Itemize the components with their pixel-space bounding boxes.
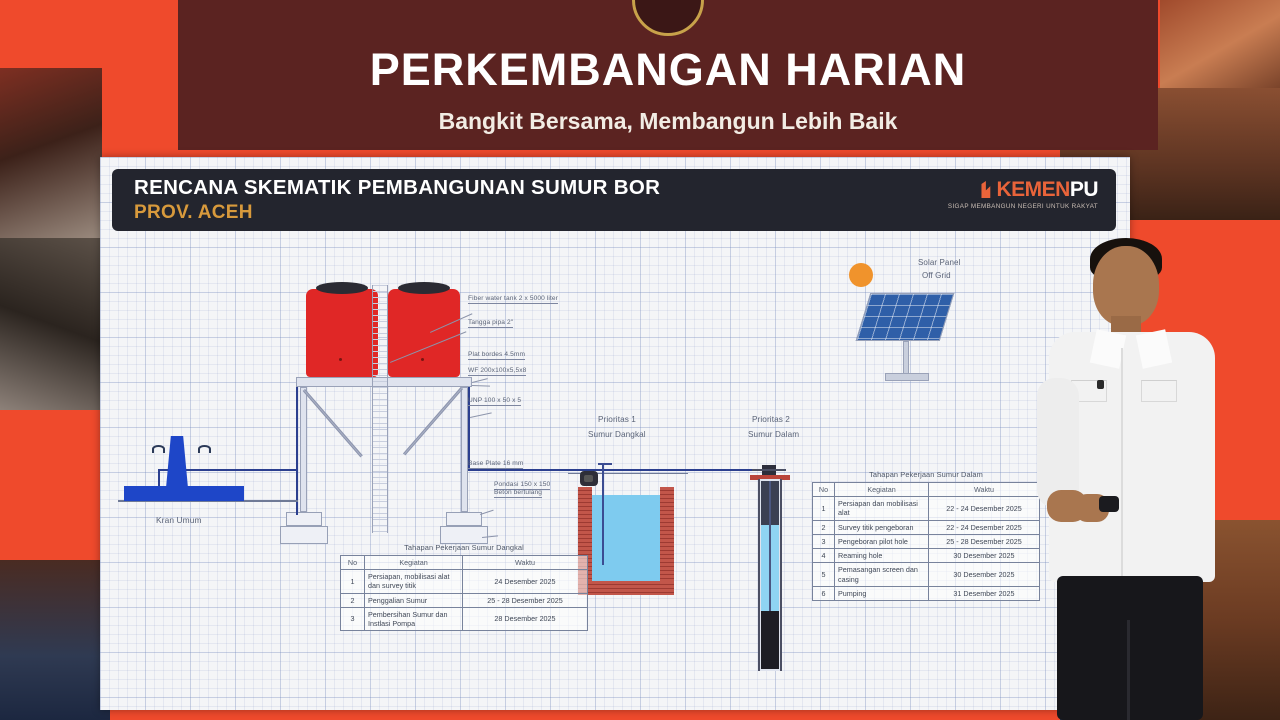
deep-well-sump	[761, 611, 779, 669]
cell-kegiatan: Persiapan, mobilisasi alat dan survey ti…	[365, 570, 463, 593]
annotation-wf: WF 200x100x5,5x8	[468, 367, 526, 376]
shallow-well-wall-bottom	[578, 581, 674, 595]
annotation-foundation-line2: Beton bertulang	[494, 489, 542, 498]
cell-no: 3	[813, 534, 835, 548]
annotation-unp: UNP 100 x 50 x 5	[468, 397, 521, 406]
annotation-ladder: Tangga pipa 2"	[468, 319, 513, 328]
table-row: 3 Pengeboran pilot hole 25 - 28 Desember…	[813, 534, 1040, 548]
cell-no: 5	[813, 563, 835, 586]
table-header-row: No Kegiatan Waktu	[813, 483, 1040, 497]
sun-icon	[849, 263, 873, 287]
header-kegiatan: Kegiatan	[835, 483, 929, 497]
slide-subtitle-province: PROV. ACEH	[134, 202, 253, 224]
cell-kegiatan: Pengeboran pilot hole	[835, 534, 929, 548]
cell-no: 4	[813, 549, 835, 563]
cell-kegiatan: Penggalian Sumur	[365, 593, 463, 607]
tap-faucet-left-icon	[152, 445, 165, 453]
table-row: 2 Survey titik pengeboran 22 - 24 Desemb…	[813, 520, 1040, 534]
cell-no: 1	[813, 497, 835, 520]
access-ladder	[372, 285, 388, 533]
cell-waktu: 28 Desember 2025	[463, 607, 588, 630]
header-no: No	[813, 483, 835, 497]
logo-kemen-text: KEMEN	[996, 178, 1069, 201]
slide-header-bar: RENCANA SKEMATIK PEMBANGUNAN SUMUR BOR P…	[112, 169, 1116, 231]
supply-pipe-main	[468, 469, 768, 471]
cell-no: 2	[813, 520, 835, 534]
table-header-row: No Kegiatan Waktu	[341, 556, 588, 570]
cell-kegiatan: Pemasangan screen dan casing	[835, 563, 929, 586]
table-row: 4 Reaming hole 30 Desember 2025	[813, 549, 1040, 563]
priority1-subtitle: Sumur Dangkal	[588, 430, 646, 439]
cell-kegiatan: Reaming hole	[835, 549, 929, 563]
solar-panel-array	[856, 293, 955, 341]
annotation-plate: Plat bordes 4.5mm	[468, 351, 525, 360]
cell-kegiatan: Pumping	[835, 586, 929, 600]
deep-well-drop-pipe	[769, 481, 771, 611]
tap-column	[166, 436, 188, 488]
presenter-shirt-placket	[1121, 348, 1123, 580]
table-row: 3 Pembersihan Sumur dan Instlasi Pompa 2…	[341, 607, 588, 630]
shallow-table: No Kegiatan Waktu 1 Persiapan, mobilisas…	[340, 555, 588, 631]
tap-faucet-right-icon	[198, 445, 211, 453]
cell-waktu: 24 Desember 2025	[463, 570, 588, 593]
presenter-head	[1093, 246, 1159, 326]
presenter-wristwatch	[1099, 496, 1119, 512]
fiber-water-tank-right	[388, 289, 460, 377]
program-title: PERKEMBANGAN HARIAN	[178, 44, 1158, 96]
table-row: 2 Penggalian Sumur 25 - 28 Desember 2025	[341, 593, 588, 607]
priority2-subtitle: Sumur Dalam	[748, 430, 799, 439]
deep-table-caption: Tahapan Pekerjaan Sumur Dalam	[812, 470, 1040, 479]
header-kegiatan: Kegiatan	[365, 556, 463, 570]
deep-table: No Kegiatan Waktu 1 Persiapan dan mobili…	[812, 482, 1040, 601]
broadcast-stage: PERKEMBANGAN HARIAN Bangkit Bersama, Mem…	[0, 0, 1280, 720]
deep-well-diagram	[750, 465, 790, 685]
program-title-banner: PERKEMBANGAN HARIAN Bangkit Bersama, Mem…	[178, 0, 1158, 150]
presenter-person	[1035, 228, 1235, 720]
cell-kegiatan: Pembersihan Sumur dan Instlasi Pompa	[365, 607, 463, 630]
presenter-pocket-right	[1141, 380, 1177, 402]
cell-kegiatan: Survey titik pengeboran	[835, 520, 929, 534]
cell-waktu: 25 - 28 Desember 2025	[463, 593, 588, 607]
kementerian-pu-logo: KEMENPU SIGAP MEMBANGUN NEGERI UNTUK RAK…	[948, 179, 1098, 210]
table-row: 1 Persiapan, mobilisasi alat dan survey …	[341, 570, 588, 593]
cell-waktu: 22 - 24 Desember 2025	[929, 520, 1040, 534]
solar-panel-base	[885, 373, 929, 381]
cell-no: 2	[341, 593, 365, 607]
cell-waktu: 31 Desember 2025	[929, 586, 1040, 600]
cell-waktu: 30 Desember 2025	[929, 549, 1040, 563]
solar-panel-pole	[903, 341, 909, 375]
cell-no: 6	[813, 586, 835, 600]
cell-no: 3	[341, 607, 365, 630]
presenter-leg-separation	[1127, 620, 1130, 720]
priority2-title: Prioritas 2	[752, 415, 790, 424]
logo-tagline: SIGAP MEMBANGUN NEGERI UNTUK RAKYAT	[948, 203, 1098, 210]
tower-leg-right	[461, 387, 468, 512]
logo-pu-text: PU	[1070, 178, 1098, 201]
background-photo-rescue-left	[0, 560, 110, 720]
foundation-left	[286, 512, 322, 526]
header-waktu: Waktu	[463, 556, 588, 570]
cell-no: 1	[341, 570, 365, 593]
shallow-well-pump	[580, 471, 598, 486]
background-photo-flood-left	[0, 68, 102, 238]
background-photo-mud-right	[1160, 0, 1280, 100]
distribution-pipe-vertical-left	[296, 387, 298, 515]
background-photo-aid-right	[1240, 220, 1280, 520]
foundation-right	[446, 512, 482, 526]
fiber-water-tank-left	[306, 289, 378, 377]
public-tap-structure	[124, 443, 244, 501]
header-waktu: Waktu	[929, 483, 1040, 497]
table-row: 6 Pumping 31 Desember 2025	[813, 586, 1040, 600]
presenter-lapel-microphone	[1097, 380, 1104, 389]
tap-base	[124, 486, 244, 501]
presenter-arm-left	[1037, 378, 1079, 508]
shallow-well-suction-pipe	[602, 465, 604, 565]
cell-kegiatan: Persiapan dan mobilisasi alat	[835, 497, 929, 520]
garuda-emblem-icon	[632, 0, 704, 36]
header-no: No	[341, 556, 365, 570]
annotation-solar-line1: Solar Panel	[918, 258, 960, 267]
presenter-hand-left	[1047, 490, 1087, 522]
shallow-well-diagram	[578, 475, 674, 595]
cell-waktu: 22 - 24 Desember 2025	[929, 497, 1040, 520]
background-photo-debris-left	[0, 238, 102, 410]
pu-logo-mark-icon	[981, 181, 994, 198]
foundation-right-footing	[440, 526, 488, 544]
foundation-left-footing	[280, 526, 328, 544]
deep-well-schedule: Tahapan Pekerjaan Sumur Dalam No Kegiata…	[812, 470, 1040, 601]
background-photo-crowd-left	[0, 412, 102, 560]
shallow-well-schedule: Tahapan Pekerjaan Sumur Dangkal No Kegia…	[340, 543, 588, 631]
slide-title: RENCANA SKEMATIK PEMBANGUNAN SUMUR BOR	[134, 176, 660, 200]
deep-well-crossbar	[752, 469, 786, 471]
annotation-tank: Fiber water tank 2 x 5000 liter	[468, 295, 558, 304]
cell-waktu: 30 Desember 2025	[929, 563, 1040, 586]
tower-leg-left	[300, 387, 307, 512]
presentation-slide: RENCANA SKEMATIK PEMBANGUNAN SUMUR BOR P…	[100, 157, 1130, 710]
table-row: 1 Persiapan dan mobilisasi alat 22 - 24 …	[813, 497, 1040, 520]
shallow-well-wall-right	[660, 487, 674, 595]
shallow-table-caption: Tahapan Pekerjaan Sumur Dangkal	[340, 543, 588, 552]
program-subtitle: Bangkit Bersama, Membangun Lebih Baik	[178, 108, 1158, 135]
shallow-well-outlet-pipe	[598, 463, 612, 465]
solar-panel-assembly	[845, 249, 975, 399]
annotation-base-plate: Base Plate 16 mm	[468, 460, 523, 469]
annotation-solar-line2: Off Grid	[922, 271, 951, 280]
annotation-kran-umum: Kran Umum	[156, 515, 202, 525]
table-row: 5 Pemasangan screen dan casing 30 Desemb…	[813, 563, 1040, 586]
presenter-trousers	[1057, 576, 1203, 720]
cell-waktu: 25 - 28 Desember 2025	[929, 534, 1040, 548]
priority1-title: Prioritas 1	[598, 415, 636, 424]
